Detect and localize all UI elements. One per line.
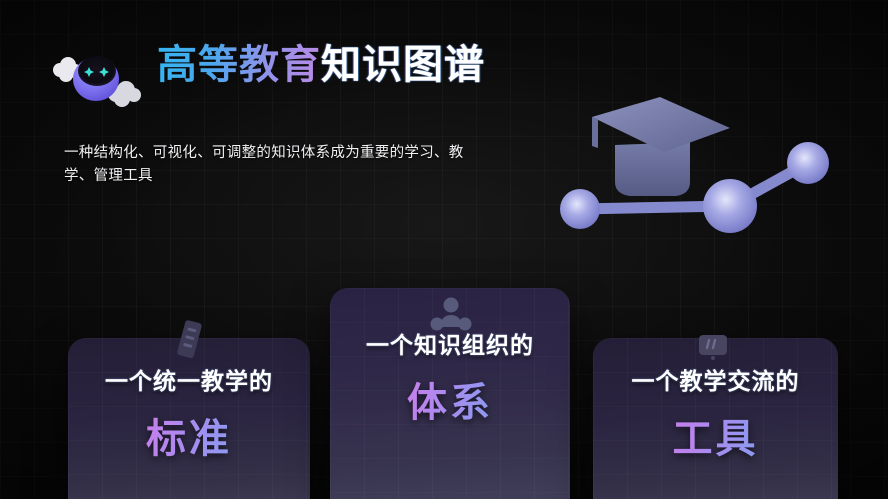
card-tool-subtitle: 一个教学交流的 bbox=[593, 362, 838, 396]
card-standard-text: 一个统一教学的 标准 bbox=[68, 362, 310, 464]
cloud-robot-mascot-icon bbox=[44, 46, 148, 108]
card-tool[interactable]: 一个教学交流的 工具 bbox=[593, 338, 838, 499]
title-gradient-part: 高等教育 bbox=[157, 43, 321, 87]
card-tool-text: 一个教学交流的 工具 bbox=[593, 362, 838, 464]
card-standard-keyword: 标准 bbox=[68, 406, 310, 464]
card-standard[interactable]: 一个统一教学的 标准 bbox=[68, 338, 310, 499]
slide-canvas: 高等教育知识图谱 一种结构化、可视化、可调整的知识体系成为重要的学习、教学、管理… bbox=[0, 0, 888, 499]
card-tool-keyword: 工具 bbox=[593, 406, 838, 464]
mascot-face bbox=[78, 56, 116, 86]
card-system-keyword: 体系 bbox=[330, 370, 570, 428]
page-subtitle: 一种结构化、可视化、可调整的知识体系成为重要的学习、教学、管理工具 bbox=[64, 142, 484, 189]
page-title: 高等教育知识图谱 bbox=[157, 40, 485, 90]
card-system[interactable]: 一个知识组织的 体系 bbox=[330, 288, 570, 499]
card-standard-subtitle: 一个统一教学的 bbox=[68, 362, 310, 396]
title-white-part: 知识图谱 bbox=[321, 43, 485, 87]
card-system-subtitle: 一个知识组织的 bbox=[330, 326, 570, 360]
card-system-text: 一个知识组织的 体系 bbox=[330, 326, 570, 428]
